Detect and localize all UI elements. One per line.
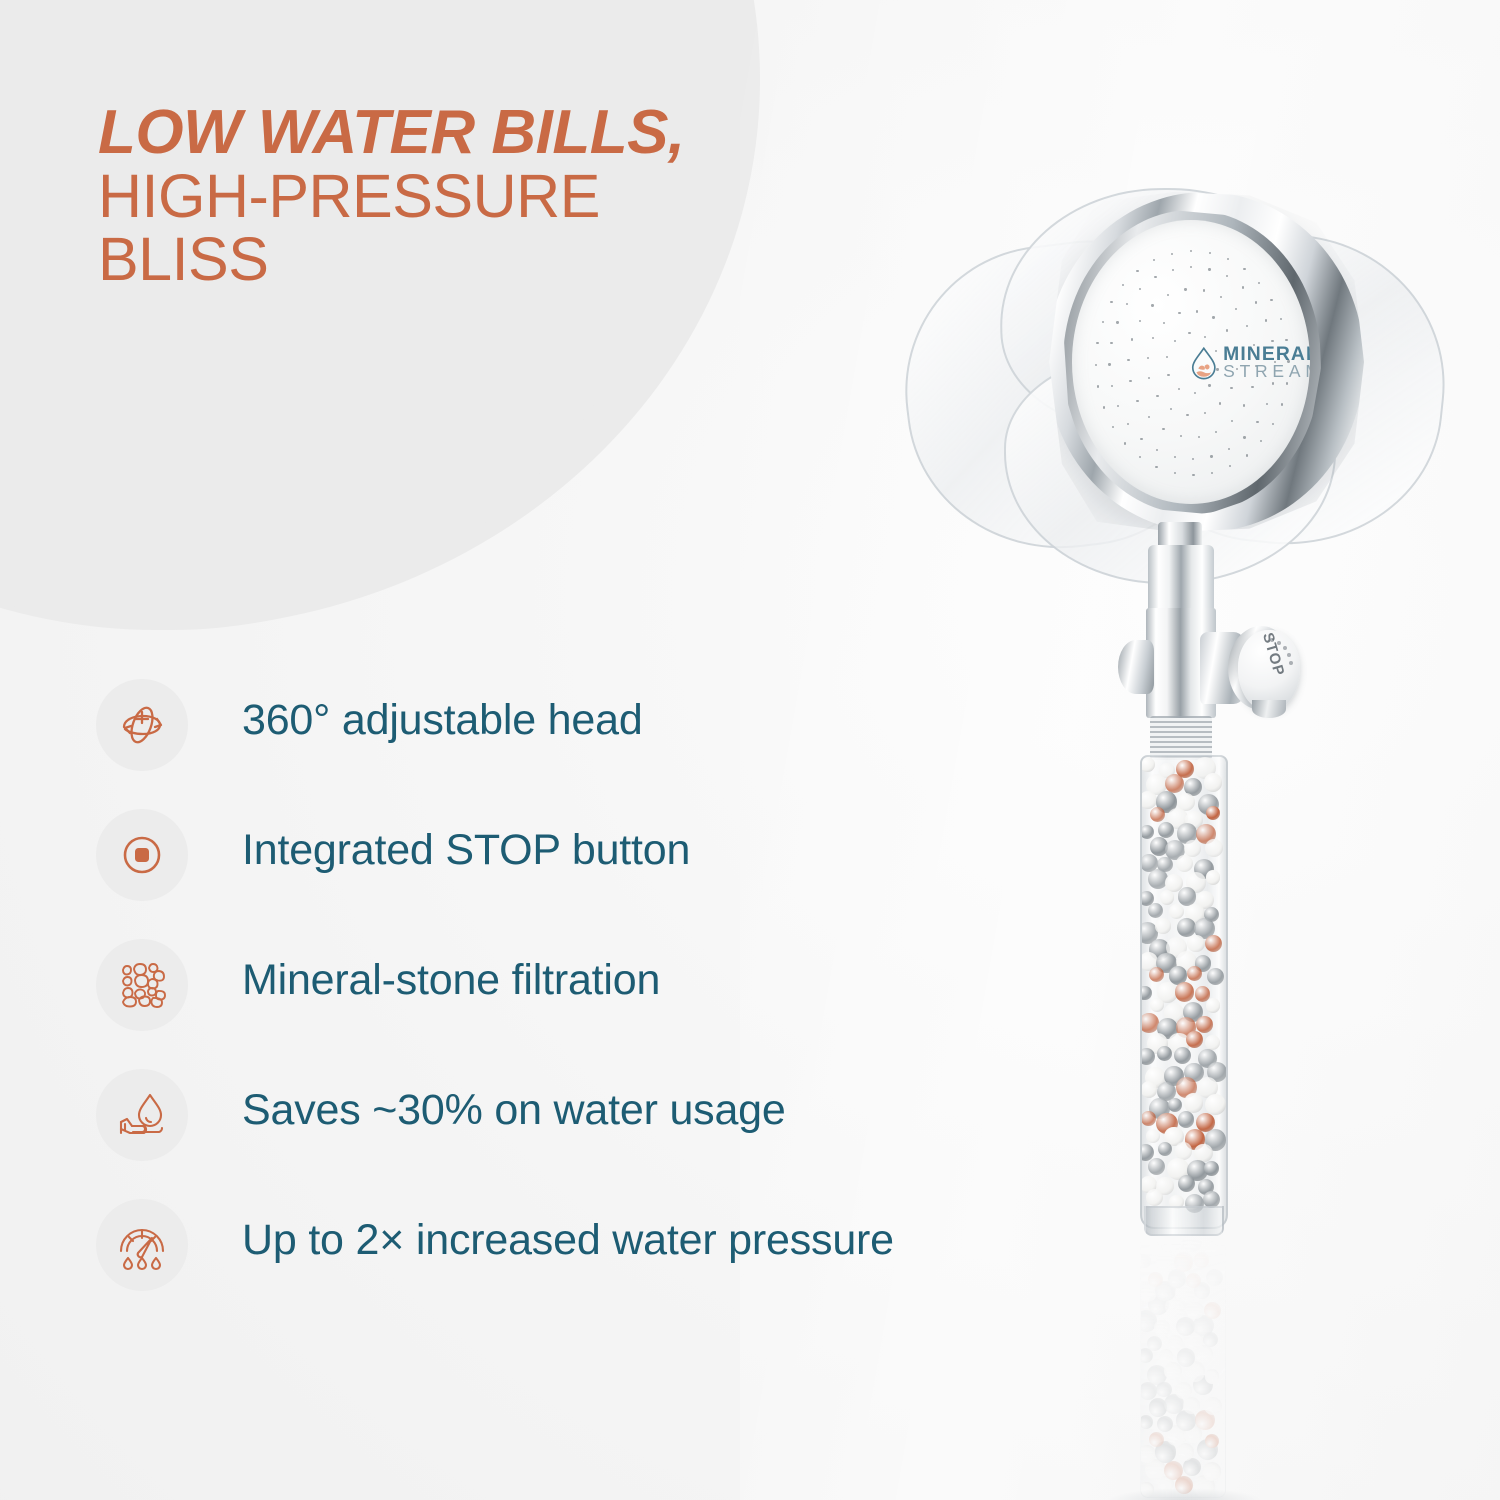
stop-button-label: STOP xyxy=(1259,631,1288,679)
infographic-canvas: LOW WATER BILLS, HIGH-PRESSURE BLISS 360… xyxy=(0,0,1500,1500)
brand-name-secondary: STREAM xyxy=(1223,364,1310,381)
product-image-showerhead: MINERAL STREAM STOP xyxy=(900,170,1460,1500)
headline-line-3: BLISS xyxy=(98,228,758,291)
water-drop-logo-icon xyxy=(1190,346,1218,379)
stop-button-lug xyxy=(1252,700,1286,718)
showerhead-neck-upper xyxy=(1148,545,1214,613)
filter-thread-collar xyxy=(1150,716,1212,760)
mineral-filter-chamber xyxy=(1140,755,1228,1229)
feature-label: Integrated STOP button xyxy=(242,813,690,876)
brand-logo: MINERAL STREAM xyxy=(1190,346,1310,381)
mineral-stones-icon xyxy=(96,939,188,1031)
headline-line-1: LOW WATER BILLS, xyxy=(98,101,758,165)
filter-chamber-cap xyxy=(1144,1206,1224,1236)
showerhead-spray-face: MINERAL STREAM xyxy=(1072,220,1310,504)
feature-label: Saves ~30% on water usage xyxy=(242,1073,786,1136)
pivot-nub-left xyxy=(1118,640,1154,694)
pressure-gauge-icon xyxy=(96,1199,188,1291)
stop-button-icon xyxy=(96,809,188,901)
product-reflection xyxy=(1140,1236,1226,1498)
feature-label: Up to 2× increased water pressure xyxy=(242,1203,894,1266)
rotation-360-icon xyxy=(96,679,188,771)
product-shadow xyxy=(1106,1488,1262,1500)
hand-water-drop-icon xyxy=(96,1069,188,1161)
feature-label: 360° adjustable head xyxy=(242,683,643,746)
headline-line-2: HIGH-PRESSURE xyxy=(98,165,758,228)
feature-label: Mineral-stone filtration xyxy=(242,943,660,1006)
stop-button[interactable]: STOP xyxy=(1238,630,1300,710)
page-title: LOW WATER BILLS, HIGH-PRESSURE BLISS xyxy=(98,101,758,291)
